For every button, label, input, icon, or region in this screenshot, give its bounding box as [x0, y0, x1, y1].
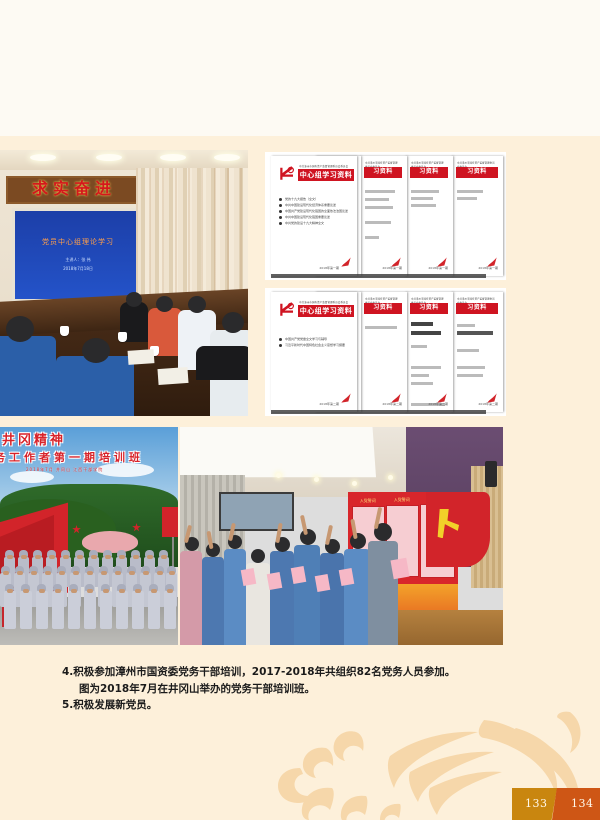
oath-card — [267, 572, 283, 590]
office-chair — [196, 346, 248, 380]
person — [116, 591, 128, 629]
attendee-back — [0, 336, 56, 416]
doc-shadow — [271, 274, 486, 278]
spot-light — [314, 477, 319, 482]
background-band-top — [0, 0, 600, 136]
doc-footer: 2018年第二期 — [319, 402, 339, 406]
attendee-head — [222, 312, 244, 333]
party-flag — [426, 492, 491, 566]
ceiling-light-panel — [180, 427, 376, 477]
oath-card — [241, 568, 257, 586]
spot-light — [352, 481, 357, 486]
party-oath-ceremony-photo: 入党誓词 入党誓词 党员的义务 — [180, 427, 503, 645]
oath-card — [339, 568, 355, 586]
projection-screen: 党员中心组理论学习 主讲人：张 伟 2018年7月18日 — [12, 208, 144, 302]
meeting-room-photo: 求实奋进 党员中心组理论学习 主讲人：张 伟 2018年7月18日 — [0, 150, 248, 416]
document-cover: 中共漳州市国有资产监督管理委员会委员会 习资料 2018年第二期 — [359, 292, 407, 412]
screen-title: 党员中心组理论学习 — [15, 237, 141, 247]
doc-title: 习资料 — [456, 303, 498, 314]
doc-title: 习资料 — [456, 167, 498, 178]
study-materials-covers-row-1: 中共漳州市国有资产监督管理委员会委员会 习资料 2018年第一期 中共漳州市国有… — [265, 152, 506, 280]
person — [148, 591, 160, 629]
document-paper — [157, 367, 188, 385]
doc-header-text: 中共漳州市国有资产监督管理委员会委员会 — [299, 300, 353, 304]
document-paper — [128, 349, 155, 365]
document-cover-front: 中共漳州市国有资产监督管理委员会委员会 中心组学习资料 党的十九大报告（全文） … — [271, 156, 357, 276]
doc-contents-list: 党的十九大报告（全文） 中共中国建设现代化经济体系重要论述 中国共产党建设现代化… — [279, 196, 357, 226]
doc-footer: 2018年第一期 — [319, 266, 339, 270]
document-cover: 中共漳州市国有资产监督管理委员会委员会 习资料 2018年第二期 — [405, 292, 453, 412]
attendee-head — [188, 296, 206, 313]
red-flag-icon — [485, 255, 499, 269]
red-flag-icon — [339, 255, 353, 269]
doc-title: 中心组学习资料 — [298, 169, 354, 181]
speaker-box — [485, 461, 497, 487]
participant — [294, 545, 320, 645]
participant — [202, 557, 224, 645]
red-flag-icon — [435, 255, 449, 269]
board-title: 入党誓词 — [386, 497, 417, 504]
document-cover: 中共漳州市国有资产监督管理委员会委员会 习资料 2018年第二期 — [451, 292, 503, 412]
doc-contents — [457, 190, 501, 200]
attendee-head — [156, 296, 173, 312]
person — [100, 591, 112, 629]
doc-contents — [365, 190, 405, 239]
party-emblem-icon — [277, 300, 297, 318]
document-cover: 中共漳州市国有资产监督管理委员会委员会 习资料 2018年第一期 — [405, 156, 453, 276]
red-flag-icon — [485, 391, 499, 405]
oath-card — [315, 574, 331, 592]
doc-content-item: 中共党的建设十九大精神全文 — [279, 220, 357, 226]
page-number-right: 134 — [571, 797, 594, 810]
tea-cup — [118, 332, 127, 342]
doc-title: 中心组学习资料 — [298, 305, 354, 317]
person — [4, 591, 16, 629]
doc-content-item: 习近平新时代中国特色社会主义思想学习纲要 — [279, 342, 357, 348]
oath-card — [291, 566, 307, 584]
ceiling-light — [214, 154, 240, 161]
group-photo-banner: 悟井冈精神 务工作者第一期培训班 2018年7月 井冈山 江西干部学院 — [0, 429, 178, 463]
banner-line-1: 悟井冈精神 — [0, 429, 178, 448]
doc-shadow — [271, 410, 486, 414]
board-title: 入党誓词 — [352, 498, 383, 505]
meeting-banner: 求实奋进 — [6, 176, 142, 204]
tea-cup — [60, 326, 69, 336]
caption-block: 4.积极参加漳州市国资委党务干部培训，2017-2018年共组织82名党务人员参… — [62, 664, 532, 714]
participant — [224, 549, 246, 645]
participant — [344, 549, 370, 645]
party-emblem-icon — [277, 164, 297, 182]
doc-contents — [411, 190, 451, 207]
ceiling-light — [30, 154, 56, 161]
attendee-head — [6, 316, 34, 342]
document-cover: 中共漳州市国有资产监督管理委员会委员会 习资料 2018年第一期 — [359, 156, 407, 276]
spot-light — [276, 473, 281, 478]
person — [84, 591, 96, 629]
participant-leader — [368, 541, 398, 645]
person — [20, 591, 32, 629]
attendee-head — [126, 292, 142, 307]
document-cover-front: 中共漳州市国有资产监督管理委员会委员会 中心组学习资料 中国共产党党章全文学习与… — [271, 292, 357, 412]
study-materials-covers-row-2: 中共漳州市国有资产监督管理委员会委员会 习资料 2018年第二期 中共漳州市国有… — [265, 288, 506, 416]
red-flag-icon — [389, 255, 403, 269]
caption-line-3: 5.积极发展新党员。 — [62, 697, 532, 714]
red-flag-icon — [389, 391, 403, 405]
window — [219, 492, 294, 531]
ceiling-light — [96, 154, 122, 161]
screen-line-3: 2018年7月18日 — [15, 266, 141, 272]
caption-line-1: 4.积极参加漳州市国资委党务干部培训，2017-2018年共组织82名党务人员参… — [62, 664, 532, 681]
doc-title: 习资料 — [410, 303, 448, 314]
participant — [180, 551, 202, 645]
participant-head — [251, 549, 265, 563]
red-flag-icon — [435, 391, 449, 405]
oath-card — [390, 558, 409, 579]
red-flag-icon — [339, 391, 353, 405]
ceiling-light — [160, 154, 186, 161]
doc-contents — [457, 324, 501, 377]
attendee-head — [82, 338, 110, 363]
page-number-tabs: 133 134 — [512, 788, 600, 820]
page-root: 求实奋进 党员中心组理论学习 主讲人：张 伟 2018年7月18日 — [0, 0, 600, 820]
doc-contents-list: 中国共产党党章全文学习与辅导 习近平新时代中国特色社会主义思想学习纲要 — [279, 336, 357, 348]
attendee-back — [56, 356, 134, 416]
meeting-banner-text: 求实奋进 — [8, 178, 140, 200]
screen-line-2: 主讲人：张 伟 — [15, 257, 141, 263]
person — [132, 591, 144, 629]
person — [52, 591, 64, 629]
hammer-sickle-icon — [437, 509, 463, 539]
doc-title: 习资料 — [364, 303, 402, 314]
document-cover: 中共漳州市国有资产监督管理委员会委员会 习资料 2018年第一期 — [451, 156, 503, 276]
page-number-left: 133 — [525, 797, 548, 810]
spot-light — [388, 475, 393, 480]
banner-line-2: 务工作者第一期培训班 — [0, 449, 178, 465]
doc-title: 习资料 — [410, 167, 448, 178]
participant — [270, 551, 294, 645]
red-flag — [162, 507, 178, 537]
person — [164, 591, 176, 629]
doc-contents — [365, 326, 405, 329]
doc-title: 习资料 — [364, 167, 402, 178]
banner-line-3: 2018年7月 井冈山 江西干部学院 — [26, 467, 178, 473]
jinggangshan-group-photo: 悟井冈精神 务工作者第一期培训班 2018年7月 井冈山 江西干部学院 — [0, 427, 178, 645]
caption-line-2: 图为2018年7月在井冈山举办的党务干部培训班。 — [62, 681, 532, 698]
doc-header-text: 中共漳州市国有资产监督管理委员会委员会 — [299, 164, 353, 168]
person — [36, 591, 48, 629]
person — [68, 591, 80, 629]
participant — [320, 553, 344, 645]
window-curtain — [136, 168, 248, 300]
